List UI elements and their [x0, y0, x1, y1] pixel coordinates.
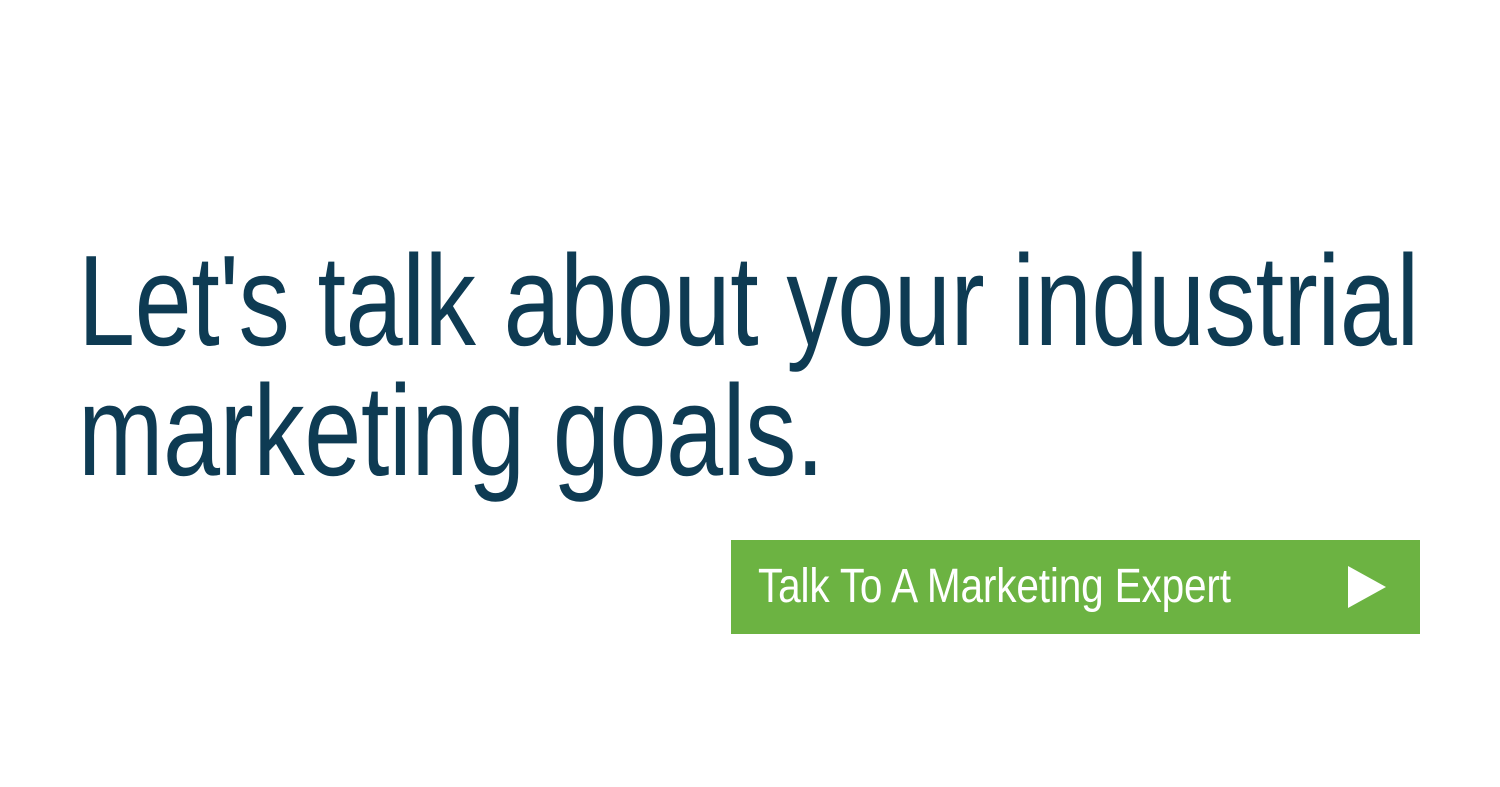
- cta-button-label: Talk To A Marketing Expert: [758, 563, 1317, 611]
- talk-to-a-marketing-expert-button[interactable]: Talk To A Marketing Expert: [731, 540, 1420, 634]
- headline-line-2: marketing goals.: [78, 366, 1159, 496]
- cta-banner: Let's talk about your industrial marketi…: [0, 0, 1500, 787]
- page-title: Let's talk about your industrial marketi…: [78, 236, 1159, 496]
- headline-line-1: Let's talk about your industrial: [78, 236, 1159, 366]
